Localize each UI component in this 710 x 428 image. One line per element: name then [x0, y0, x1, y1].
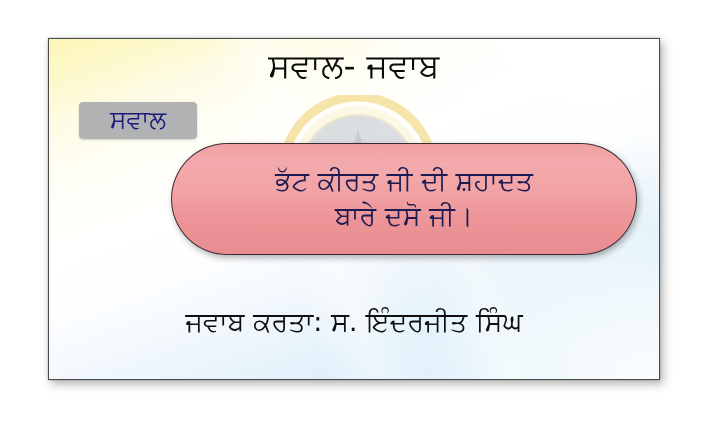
question-text-line-1: ਭੱਟ ਕੀਰਤ ਜੀ ਦੀ ਸ਼ਹਾਦਤ [275, 164, 533, 199]
question-label-badge: ਸਵਾਲ [79, 102, 197, 139]
question-callout: ਭੱਟ ਕੀਰਤ ਜੀ ਦੀ ਸ਼ਹਾਦਤ ਬਾਰੇ ਦਸੋ ਜੀ। [171, 143, 637, 255]
slide-title: ਸਵਾਲ- ਜਵਾਬ [49, 48, 659, 85]
question-text-line-2: ਬਾਰੇ ਦਸੋ ਜੀ। [335, 199, 473, 234]
answer-author-credit: ਜਵਾਬ ਕਰਤਾ: ਸ. ਇੰਦਰਜੀਤ ਸਿੰਘ [49, 307, 659, 339]
screenshot-canvas: ਸਵਾਲ- ਜਵਾਬ ਸਵਾਲ ਭੱਟ ਕੀਰਤ ਜੀ ਦੀ ਸ਼ਹਾਦਤ ਬਾ… [0, 0, 710, 428]
presentation-slide: ਸਵਾਲ- ਜਵਾਬ ਸਵਾਲ ਭੱਟ ਕੀਰਤ ਜੀ ਦੀ ਸ਼ਹਾਦਤ ਬਾ… [48, 38, 660, 380]
